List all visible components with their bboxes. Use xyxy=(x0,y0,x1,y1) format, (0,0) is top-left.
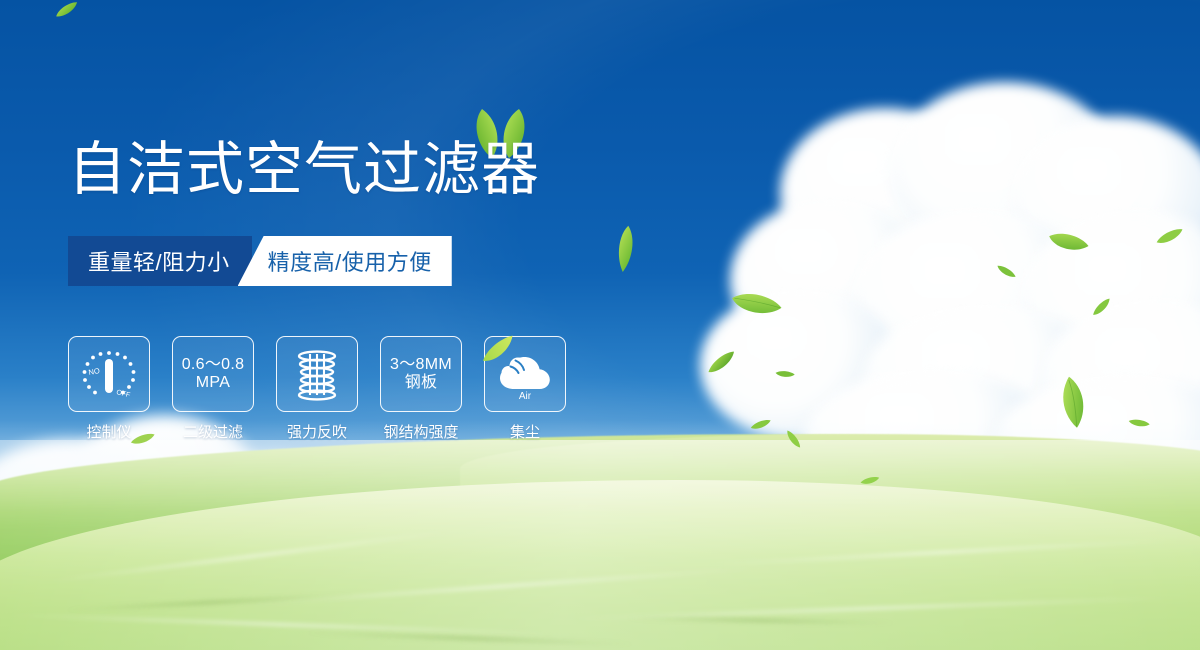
feature-item-back-blow[interactable]: 强力反吹 xyxy=(276,336,358,442)
feature-box: NO OFF xyxy=(68,336,150,412)
filter-coil-icon xyxy=(286,345,348,403)
feature-box: 3～8MM 钢板 xyxy=(380,336,462,412)
leaf-icon xyxy=(1044,223,1093,264)
leaf-icon xyxy=(774,366,796,382)
steel-plate-text-icon: 3～8MM 钢板 xyxy=(390,356,452,393)
subtitle-left: 重量轻/阻力小 xyxy=(68,236,252,286)
feature-item-two-stage-filter[interactable]: 0.6～0.8 MPA 二级过滤 xyxy=(172,336,254,442)
air-caption: Air xyxy=(519,391,532,402)
leaf-icon xyxy=(993,260,1019,284)
feature-label: 强力反吹 xyxy=(287,421,347,442)
subtitle-bar: 重量轻/阻力小 精度高/使用方便 xyxy=(68,236,452,286)
product-banner: 自洁式空气过滤器 重量轻/阻力小 精度高/使用方便 xyxy=(0,0,1200,650)
steel-line-1: 3～8MM xyxy=(390,356,452,374)
feature-box: Air xyxy=(484,336,566,412)
pressure-line-2: MPA xyxy=(182,374,245,392)
leaf-icon xyxy=(1153,223,1188,251)
feature-item-dust-collection[interactable]: Air 集尘 xyxy=(484,336,566,442)
feature-label: 集尘 xyxy=(510,421,540,442)
feature-box: 0.6～0.8 MPA xyxy=(172,336,254,412)
feature-item-controller[interactable]: NO OFF 控制仪 xyxy=(68,336,150,442)
feature-list: NO OFF 控制仪 0.6～0.8 MPA 二级过滤 xyxy=(68,336,566,442)
feature-label: 控制仪 xyxy=(86,421,131,442)
svg-text:OFF: OFF xyxy=(116,389,131,399)
feature-item-steel-strength[interactable]: 3～8MM 钢板 钢结构强度 xyxy=(380,336,462,442)
steel-line-2: 钢板 xyxy=(390,374,452,392)
air-cloud-icon: Air xyxy=(494,345,556,403)
grass-field xyxy=(0,420,1200,650)
leaf-icon xyxy=(52,0,82,23)
leaf-icon xyxy=(1088,294,1116,321)
leaf-icon xyxy=(702,344,742,381)
gauge-icon: NO OFF xyxy=(78,345,140,403)
subtitle-right: 精度高/使用方便 xyxy=(238,236,452,286)
pressure-text-icon: 0.6～0.8 MPA xyxy=(182,356,245,393)
page-title: 自洁式空气过滤器 xyxy=(68,141,540,199)
leaf-icon xyxy=(611,224,639,275)
pressure-line-1: 0.6～0.8 xyxy=(182,356,245,374)
feature-label: 钢结构强度 xyxy=(383,421,458,442)
feature-box xyxy=(276,336,358,412)
leaf-icon xyxy=(726,279,787,330)
svg-text:NO: NO xyxy=(88,366,101,377)
feature-label: 二级过滤 xyxy=(183,421,243,442)
